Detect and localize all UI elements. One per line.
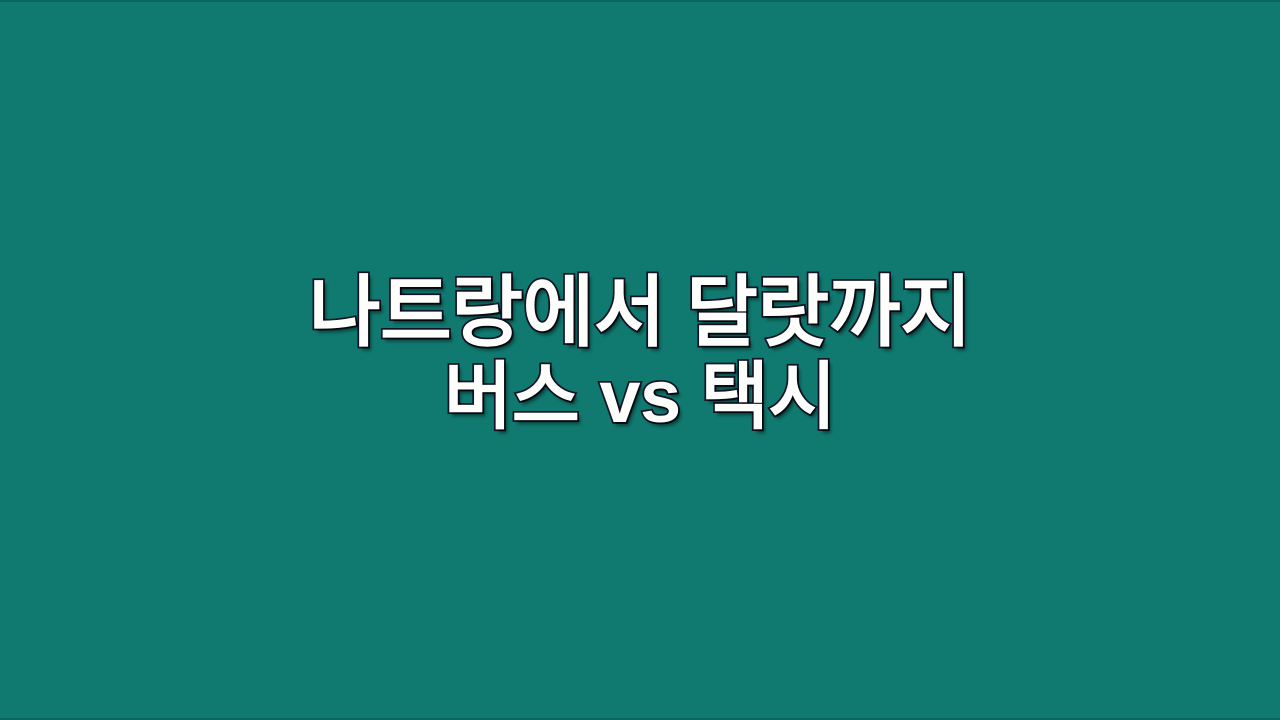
title-line-secondary: 버스 vs 택시 <box>0 359 1280 436</box>
title-card: 나트랑에서 달랏까지 버스 vs 택시 <box>0 0 1280 720</box>
title-line-primary: 나트랑에서 달랏까지 <box>0 272 1280 353</box>
title-text-block: 나트랑에서 달랏까지 버스 vs 택시 <box>0 272 1280 436</box>
